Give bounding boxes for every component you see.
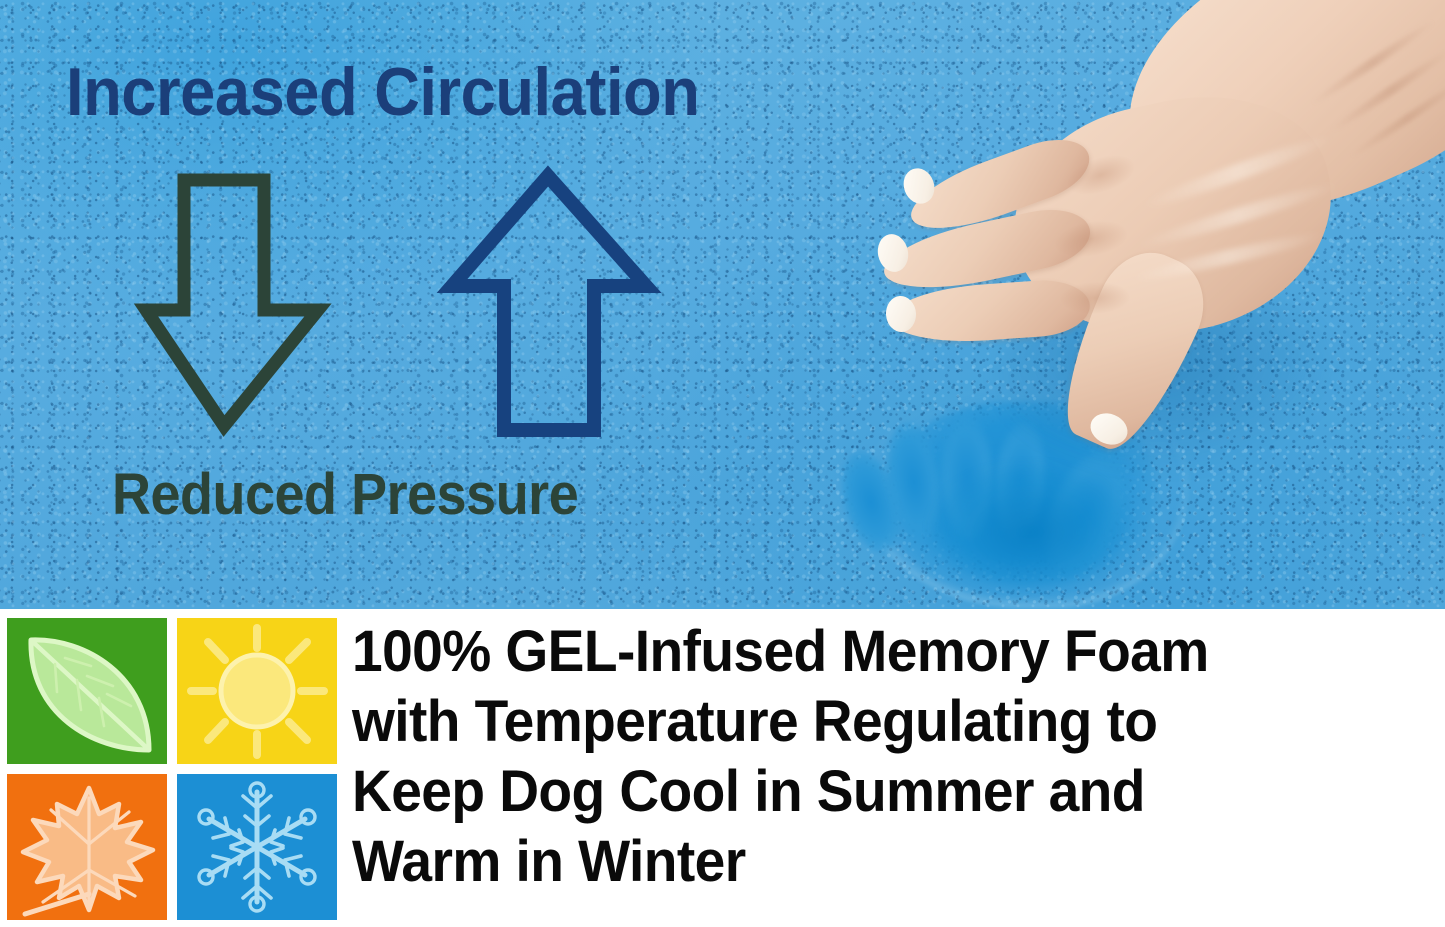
snowflake-icon xyxy=(177,774,337,920)
headline-line-4: Warm in Winter xyxy=(352,827,1388,897)
memory-foam-photo: Increased Circulation Reduced Pressure xyxy=(0,0,1445,609)
headline-line-2: with Temperature Regulating to xyxy=(352,687,1388,757)
product-feature-poster: Increased Circulation Reduced Pressure xyxy=(0,0,1445,927)
hand-photo xyxy=(818,0,1445,452)
down-arrow-icon xyxy=(140,170,340,438)
season-tile-autumn xyxy=(7,774,167,920)
maple-leaf-icon xyxy=(7,774,167,920)
feature-band: 100% GEL-Infused Memory Foam with Temper… xyxy=(0,609,1445,927)
caption-increased-circulation: Increased Circulation xyxy=(66,58,699,126)
headline-line-3: Keep Dog Cool in Summer and xyxy=(352,757,1388,827)
leaf-icon xyxy=(7,618,167,764)
season-tile-spring xyxy=(7,618,167,764)
up-arrow-icon xyxy=(442,168,658,436)
headline-line-1: 100% GEL-Infused Memory Foam xyxy=(352,617,1388,687)
handprint-deep-shadow xyxy=(932,466,1128,586)
season-tile-summer xyxy=(177,618,337,764)
feature-headline: 100% GEL-Infused Memory Foam with Temper… xyxy=(352,617,1388,897)
season-tile-winter xyxy=(177,774,337,920)
caption-reduced-pressure: Reduced Pressure xyxy=(112,466,578,524)
sun-icon xyxy=(177,618,337,764)
four-seasons-icon-grid xyxy=(7,618,337,920)
